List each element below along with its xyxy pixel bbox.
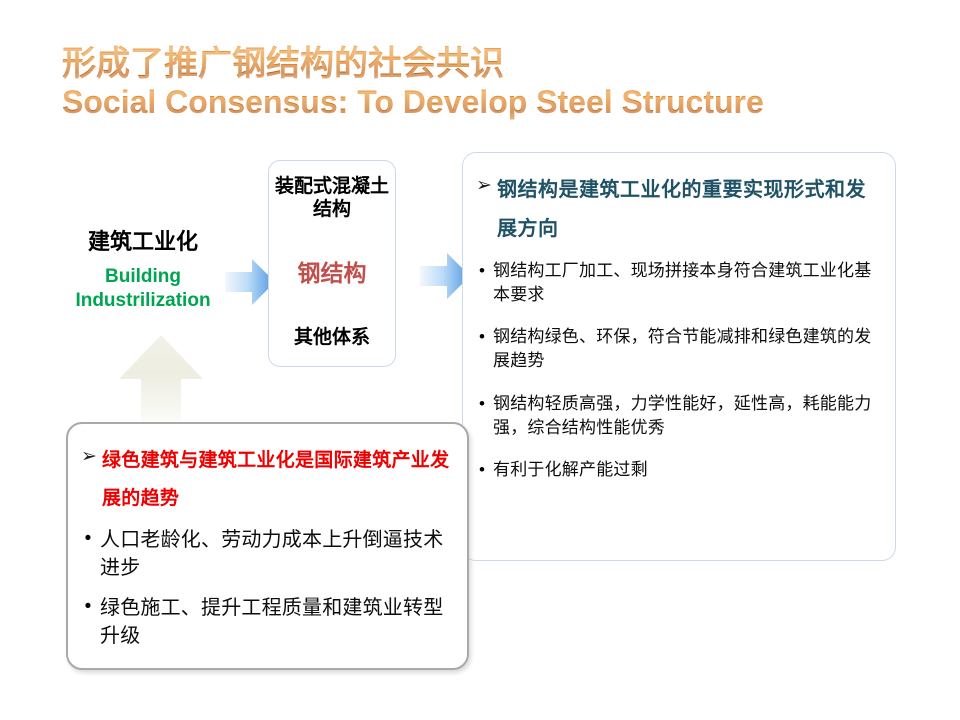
- list-item: • 钢结构绿色、环保，符合节能减排和绿色建筑的发展趋势: [471, 325, 879, 373]
- bullet-dot-icon: •: [76, 594, 100, 621]
- right-panel-heading-text: 钢结构是建筑工业化的重要实现形式和发展方向: [497, 171, 879, 249]
- arrow-bullet-icon: ➢: [471, 171, 497, 200]
- list-item-text: 有利于化解产能过剩: [493, 458, 648, 482]
- left-label-english-line1: Building: [48, 265, 238, 289]
- list-item-text: 人口老龄化、劳动力成本上升倒逼技术进步: [100, 526, 453, 582]
- list-item: • 绿色施工、提升工程质量和建筑业转型升级: [76, 594, 453, 650]
- list-item: • 有利于化解产能过剩: [471, 458, 879, 483]
- list-item-text: 钢结构绿色、环保，符合节能减排和绿色建筑的发展趋势: [493, 325, 879, 373]
- right-panel-heading: ➢ 钢结构是建筑工业化的重要实现形式和发展方向: [471, 171, 879, 249]
- left-label-english-line2: Industrilization: [48, 289, 238, 313]
- bullet-dot-icon: •: [76, 526, 100, 553]
- list-item: • 人口老龄化、劳动力成本上升倒逼技术进步: [76, 526, 453, 582]
- left-label-english: Building Industrilization: [48, 265, 238, 314]
- bullet-dot-icon: •: [471, 259, 493, 284]
- list-item-text: 钢结构工厂加工、现场拼接本身符合建筑工业化基本要求: [493, 259, 879, 307]
- system-item-steel-structure: 钢结构: [298, 260, 367, 288]
- steel-structure-benefits-panel: ➢ 钢结构是建筑工业化的重要实现形式和发展方向 • 钢结构工厂加工、现场拼接本身…: [462, 152, 896, 561]
- bottom-box-heading: ➢ 绿色建筑与建筑工业化是国际建筑产业发展的趋势: [76, 442, 453, 518]
- system-item-other: 其他体系: [294, 327, 370, 350]
- green-building-trend-box: ➢ 绿色建筑与建筑工业化是国际建筑产业发展的趋势 • 人口老龄化、劳动力成本上升…: [66, 422, 469, 670]
- list-item: • 钢结构轻质高强，力学性能好，延性高，耗能能力强，综合结构性能优秀: [471, 392, 879, 440]
- bullet-dot-icon: •: [471, 458, 493, 483]
- bullet-dot-icon: •: [471, 392, 493, 417]
- bottom-box-heading-text: 绿色建筑与建筑工业化是国际建筑产业发展的趋势: [102, 442, 453, 518]
- page-title-english: Social Consensus: To Develop Steel Struc…: [62, 84, 902, 122]
- left-label-chinese: 建筑工业化: [48, 228, 238, 257]
- bullet-dot-icon: •: [471, 325, 493, 350]
- system-item-precast-concrete: 装配式混凝土结构: [273, 175, 391, 221]
- list-item: • 钢结构工厂加工、现场拼接本身符合建筑工业化基本要求: [471, 259, 879, 307]
- page-title-chinese: 形成了推广钢结构的社会共识: [62, 44, 902, 84]
- up-arrow-icon: [117, 333, 205, 423]
- arrow-bullet-icon: ➢: [76, 442, 102, 472]
- building-industrialization-label: 建筑工业化 Building Industrilization: [48, 228, 238, 313]
- list-item-text: 绿色施工、提升工程质量和建筑业转型升级: [100, 594, 453, 650]
- list-item-text: 钢结构轻质高强，力学性能好，延性高，耗能能力强，综合结构性能优秀: [493, 392, 879, 440]
- page-title: 形成了推广钢结构的社会共识 Social Consensus: To Devel…: [62, 44, 902, 122]
- structure-systems-box: 装配式混凝土结构 钢结构 其他体系: [268, 160, 396, 367]
